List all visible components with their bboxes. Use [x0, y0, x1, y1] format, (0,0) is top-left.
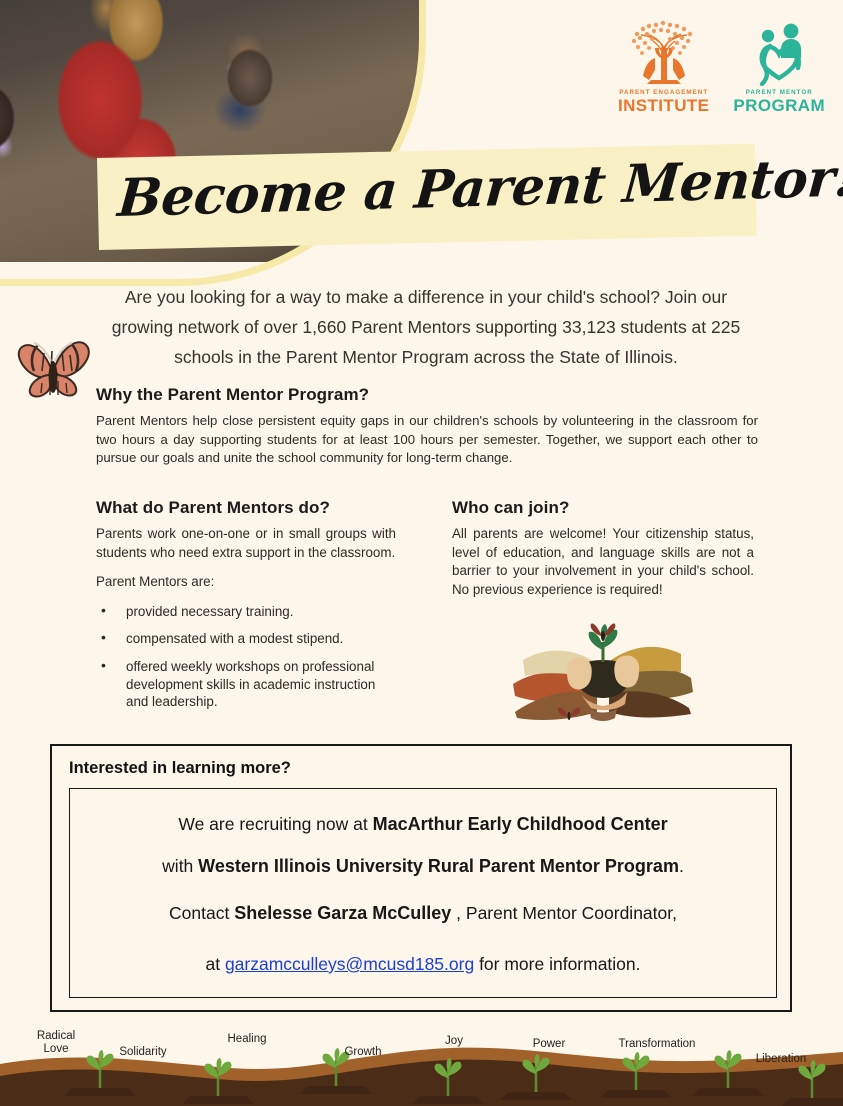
partner-suffix: . — [679, 856, 684, 876]
why-heading: Why the Parent Mentor Program? — [96, 385, 758, 405]
logo-group: PARENT ENGAGEMENT INSTITUTE PARENT MENTO… — [618, 18, 825, 116]
who-body: All parents are welcome! Your citizenshi… — [452, 525, 754, 599]
email-line: at garzamcculleys@mcusd185.org for more … — [88, 954, 758, 975]
recruiting-site: MacArthur Early Childhood Center — [373, 814, 668, 834]
contact-inner-box: We are recruiting now at MacArthur Early… — [69, 788, 777, 998]
contact-outer-box: Interested in learning more? We are recr… — [50, 744, 792, 1012]
contact-prefix: Contact — [169, 903, 234, 923]
email-suffix: for more information. — [474, 954, 640, 974]
footer-ground-illustration: RadicalLove Solidarity Healing Growth Jo… — [0, 1010, 843, 1106]
partner-program: Western Illinois University Rural Parent… — [198, 856, 679, 876]
footer-value-label: Liberation — [735, 1053, 827, 1066]
butterfly-icon — [8, 325, 100, 405]
what-heading: What do Parent Mentors do? — [96, 498, 396, 518]
what-list-intro: Parent Mentors are: — [96, 573, 396, 592]
flyer-page: PARENT ENGAGEMENT INSTITUTE PARENT MENTO… — [0, 0, 843, 1106]
intro-paragraph: Are you looking for a way to make a diff… — [92, 282, 760, 372]
recruiting-line: We are recruiting now at MacArthur Early… — [88, 813, 758, 835]
footer-value-label: RadicalLove — [20, 1030, 92, 1056]
who-heading: Who can join? — [452, 498, 754, 518]
coordinator-line: Contact Shelesse Garza McCulley , Parent… — [88, 903, 758, 924]
email-prefix: at — [205, 954, 224, 974]
why-body: Parent Mentors help close persistent equ… — [96, 412, 758, 468]
why-section: Why the Parent Mentor Program? Parent Me… — [96, 385, 758, 468]
logo-parent-engagement-institute: PARENT ENGAGEMENT INSTITUTE — [618, 18, 709, 116]
contact-box-title: Interested in learning more? — [69, 759, 291, 778]
email-link[interactable]: garzamcculleys@mcusd185.org — [225, 954, 474, 974]
coordinator-role: , Parent Mentor Coordinator, — [451, 903, 677, 923]
list-item: provided necessary training. — [96, 603, 396, 621]
footer-value-label: Joy — [424, 1035, 484, 1048]
logo-word-institute: INSTITUTE — [618, 96, 709, 116]
mentor-benefits-list: provided necessary training. compensated… — [96, 603, 396, 711]
partner-prefix: with — [162, 856, 198, 876]
footer-value-label: Transformation — [597, 1038, 717, 1051]
footer-value-label: Healing — [207, 1033, 287, 1046]
who-section: Who can join? All parents are welcome! Y… — [452, 498, 754, 610]
coordinator-name: Shelesse Garza McCulley — [234, 903, 451, 923]
heart-people-icon — [733, 18, 825, 86]
footer-value-label: Solidarity — [103, 1046, 183, 1059]
partner-line: with Western Illinois University Rural P… — [88, 855, 758, 877]
tree-icon — [618, 18, 709, 86]
what-body: Parents work one-on-one or in small grou… — [96, 525, 396, 562]
what-section: What do Parent Mentors do? Parents work … — [96, 498, 396, 721]
footer-value-label: Power — [514, 1038, 584, 1051]
footer-value-label: Growth — [323, 1046, 403, 1059]
logo-kicker-institute: PARENT ENGAGEMENT — [618, 89, 709, 96]
recruiting-prefix: We are recruiting now at — [178, 814, 372, 834]
list-item: compensated with a modest stipend. — [96, 630, 396, 648]
logo-kicker-program: PARENT MENTOR — [733, 89, 825, 96]
list-item: offered weekly workshops on professional… — [96, 658, 396, 711]
hands-holding-sprout-illustration — [505, 612, 701, 732]
logo-word-program: PROGRAM — [733, 96, 825, 116]
logo-parent-mentor-program: PARENT MENTOR PROGRAM — [733, 18, 825, 116]
